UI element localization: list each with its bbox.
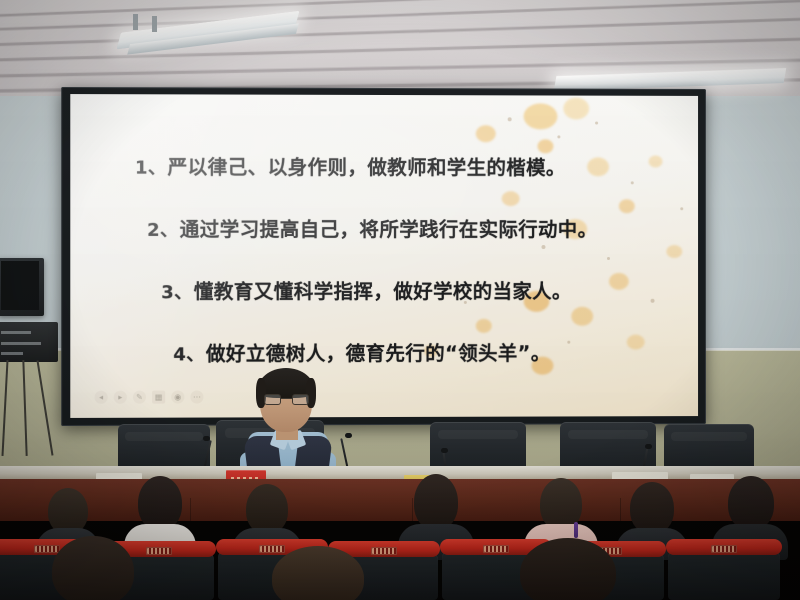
slide-line-4: 4、 做好立德树人，德育先行的“领头羊”。 — [127, 337, 665, 367]
slide-line-3-text: 懂教育又懂科学指挥，做好学校的当家人。 — [194, 275, 572, 304]
microphone-head — [345, 433, 352, 438]
person-head — [414, 474, 458, 530]
person-head — [138, 476, 182, 530]
audience-person — [520, 538, 616, 600]
previous-slide-icon[interactable]: ◂ — [95, 391, 108, 404]
microphone-head — [441, 448, 448, 453]
slide-line-2-text: 通过学习提高自己，将所学践行在实际行动中。 — [180, 213, 598, 242]
equipment-stand — [0, 360, 64, 458]
av-rack — [0, 322, 58, 362]
presentation-toolbar[interactable]: ◂ ▸ ✎ ▦ ◉ ⋯ — [95, 390, 204, 403]
audience-person — [272, 546, 364, 600]
person-head — [246, 484, 288, 534]
slide-line-3: 3、 懂教育又懂科学指挥，做好学校的当家人。 — [127, 275, 665, 304]
seat-number-tag — [483, 545, 509, 553]
slide-line-1: 1、 严以律己、以身作则，做教师和学生的楷模。 — [127, 150, 665, 180]
person-head — [52, 536, 134, 600]
projection-screen: 1、 严以律己、以身作则，做教师和学生的楷模。 2、 通过学习提高自己，将所学践… — [70, 94, 698, 418]
person-head — [728, 476, 774, 530]
light-bracket — [152, 16, 157, 32]
slide-line-2: 2、 通过学习提高自己，将所学践行在实际行动中。 — [127, 213, 665, 242]
projection-screen-frame: 1、 严以律己、以身作则，做教师和学生的楷模。 2、 通过学习提高自己，将所学践… — [61, 87, 706, 426]
person-head — [630, 482, 674, 534]
slide-line-4-text: 做好立德树人，德育先行的“领头羊”。 — [206, 337, 551, 367]
slide-line-3-number: 3、 — [161, 278, 193, 304]
glasses-lens-left — [264, 394, 281, 405]
microphone-head — [645, 444, 652, 449]
slide-line-1-number: 1、 — [135, 154, 167, 180]
zoom-icon[interactable]: ◉ — [171, 391, 184, 404]
next-slide-icon[interactable]: ▸ — [114, 391, 127, 404]
more-options-icon[interactable]: ⋯ — [190, 390, 203, 403]
glasses-bridge — [281, 398, 292, 399]
slide-body: 1、 严以律己、以身作则，做教师和学生的楷模。 2、 通过学习提高自己，将所学践… — [70, 94, 698, 418]
seat-number-tag — [371, 547, 397, 555]
stand-leg — [22, 360, 27, 456]
auditorium-seat[interactable] — [668, 548, 780, 600]
slide-overview-icon[interactable]: ▦ — [152, 391, 165, 404]
photo-scene: 1、 严以律己、以身作则，做教师和学生的楷模。 2、 通过学习提高自己，将所学践… — [0, 0, 800, 600]
wall-monitor — [0, 258, 44, 316]
stand-leg — [37, 360, 54, 455]
person-head — [272, 546, 364, 600]
rack-led-strip — [1, 352, 23, 355]
slide-line-1-text: 严以律己、以身作则，做教师和学生的楷模。 — [168, 151, 566, 181]
lanyard — [574, 522, 578, 538]
seat-number-tag — [711, 545, 737, 553]
person-head — [520, 538, 616, 600]
rack-led-strip — [1, 331, 31, 334]
glasses-lens-right — [292, 394, 309, 405]
rack-led-strip — [1, 342, 41, 345]
glasses-icon — [264, 394, 309, 405]
slide-line-2-number: 2、 — [147, 216, 179, 242]
audience-person — [52, 536, 134, 600]
stand-leg — [1, 360, 8, 456]
pen-icon[interactable]: ✎ — [133, 391, 146, 404]
light-bracket — [133, 14, 138, 30]
speaker — [232, 368, 344, 480]
seat-number-tag — [146, 547, 172, 555]
microphone-head — [203, 436, 210, 441]
slide-line-4-number: 4、 — [173, 340, 205, 366]
